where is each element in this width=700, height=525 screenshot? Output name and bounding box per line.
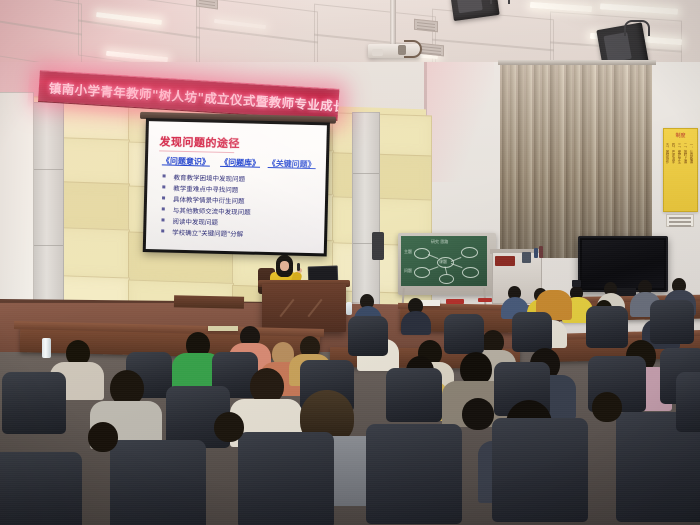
projection-screen-frame: 发现问题的途径 《问题意识》 《问题库》 《关键问题》 教育教学困境中发现问题 …	[143, 118, 330, 256]
smartphone[interactable]	[572, 280, 581, 287]
poster-column-3: 三、爱护学生	[678, 143, 681, 163]
poster-column-4: 四、严谨治学	[672, 143, 675, 163]
mindmap-node	[414, 267, 430, 278]
auditorium-seat[interactable]	[512, 312, 552, 352]
water-bottle	[346, 302, 352, 315]
tv-screen	[582, 240, 664, 288]
wall-light-wash	[424, 62, 494, 182]
wall-mounted-tv[interactable]	[578, 236, 668, 292]
water-bottle	[42, 338, 51, 358]
auditorium-seat[interactable]	[348, 316, 388, 356]
lecture-hall-photo: 镇南小学青年教师"树人坊"成立仪式暨教师专业成长专题培训 发现问题的途径 《问题…	[0, 0, 700, 525]
auditorium-seat[interactable]	[110, 440, 206, 525]
mindmap-center-label: 课题	[439, 259, 447, 265]
presenter-face	[280, 261, 289, 271]
auditorium-seat[interactable]	[0, 452, 82, 525]
cabinet-cup	[522, 252, 531, 263]
auditorium-seat[interactable]	[676, 372, 700, 432]
mindmap-connector	[428, 254, 439, 259]
wall-pilaster	[0, 92, 34, 326]
projection-screen: 发现问题的途径 《问题意识》 《问题库》 《关键问题》 教育教学困境中发现问题 …	[143, 118, 330, 256]
desk-red-folder	[478, 298, 492, 302]
wooden-podium	[262, 284, 346, 332]
blackboard-header-text: 研究 思路	[431, 239, 448, 245]
mindmap-node	[462, 267, 479, 278]
mindmap-connector	[451, 257, 462, 262]
wall-poster: 制度 一、认真备课 二、按时上课 三、爱护学生 四、严谨治学 五、团结协作	[663, 128, 698, 212]
ceiling-speaker-bracket	[490, 0, 510, 4]
blackboard-surface: 研究 思路 课题 主题 问题	[401, 236, 487, 286]
projector-lens-icon	[372, 49, 383, 56]
screen-glare	[146, 121, 327, 253]
desk-paper	[208, 326, 238, 331]
curtain-rod	[498, 60, 656, 65]
desk-red-folder	[446, 299, 464, 304]
blackboard-left-label-1: 主题	[404, 249, 412, 255]
poster-title: 制度	[667, 132, 694, 140]
projector-mount-pole	[390, 0, 396, 46]
wall-pilaster	[32, 102, 64, 320]
projector-cable	[404, 40, 422, 58]
microphone-icon	[297, 263, 300, 271]
cabinet-pen	[534, 248, 538, 258]
stage-side-table	[174, 295, 244, 308]
wall-speaker	[372, 232, 384, 260]
cabinet-red-box	[495, 256, 515, 266]
auditorium-seat[interactable]	[2, 372, 66, 434]
auditorium-seat[interactable]	[492, 418, 588, 522]
auditorium-seat[interactable]	[366, 424, 462, 524]
curtain-shading	[500, 62, 652, 258]
auditorium-seat[interactable]	[586, 306, 628, 348]
auditorium-seat[interactable]	[650, 300, 694, 344]
poster-column-5: 五、团结协作	[666, 143, 669, 163]
cabinet-pen	[539, 246, 543, 258]
projection-screen-surface: 发现问题的途径 《问题意识》 《问题库》 《关键问题》 教育教学困境中发现问题 …	[146, 121, 327, 253]
mindmap-node	[461, 247, 478, 258]
blackboard-left-label-2: 问题	[404, 268, 412, 274]
wall-pilaster	[352, 112, 380, 310]
wall-notice-plate	[666, 214, 694, 227]
mindmap-connector	[428, 266, 439, 271]
mindmap-node	[439, 274, 454, 284]
poster-column-1: 一、认真备课	[690, 143, 693, 163]
ceiling-vent	[414, 19, 438, 33]
auditorium-seat[interactable]	[444, 314, 484, 354]
auditorium-seat[interactable]	[386, 368, 442, 422]
ceiling-speaker-bracket	[624, 20, 650, 36]
poster-column-2: 二、按时上课	[684, 143, 687, 163]
auditorium-seat[interactable]	[238, 432, 334, 525]
green-blackboard: 研究 思路 课题 主题 问题	[398, 233, 496, 295]
